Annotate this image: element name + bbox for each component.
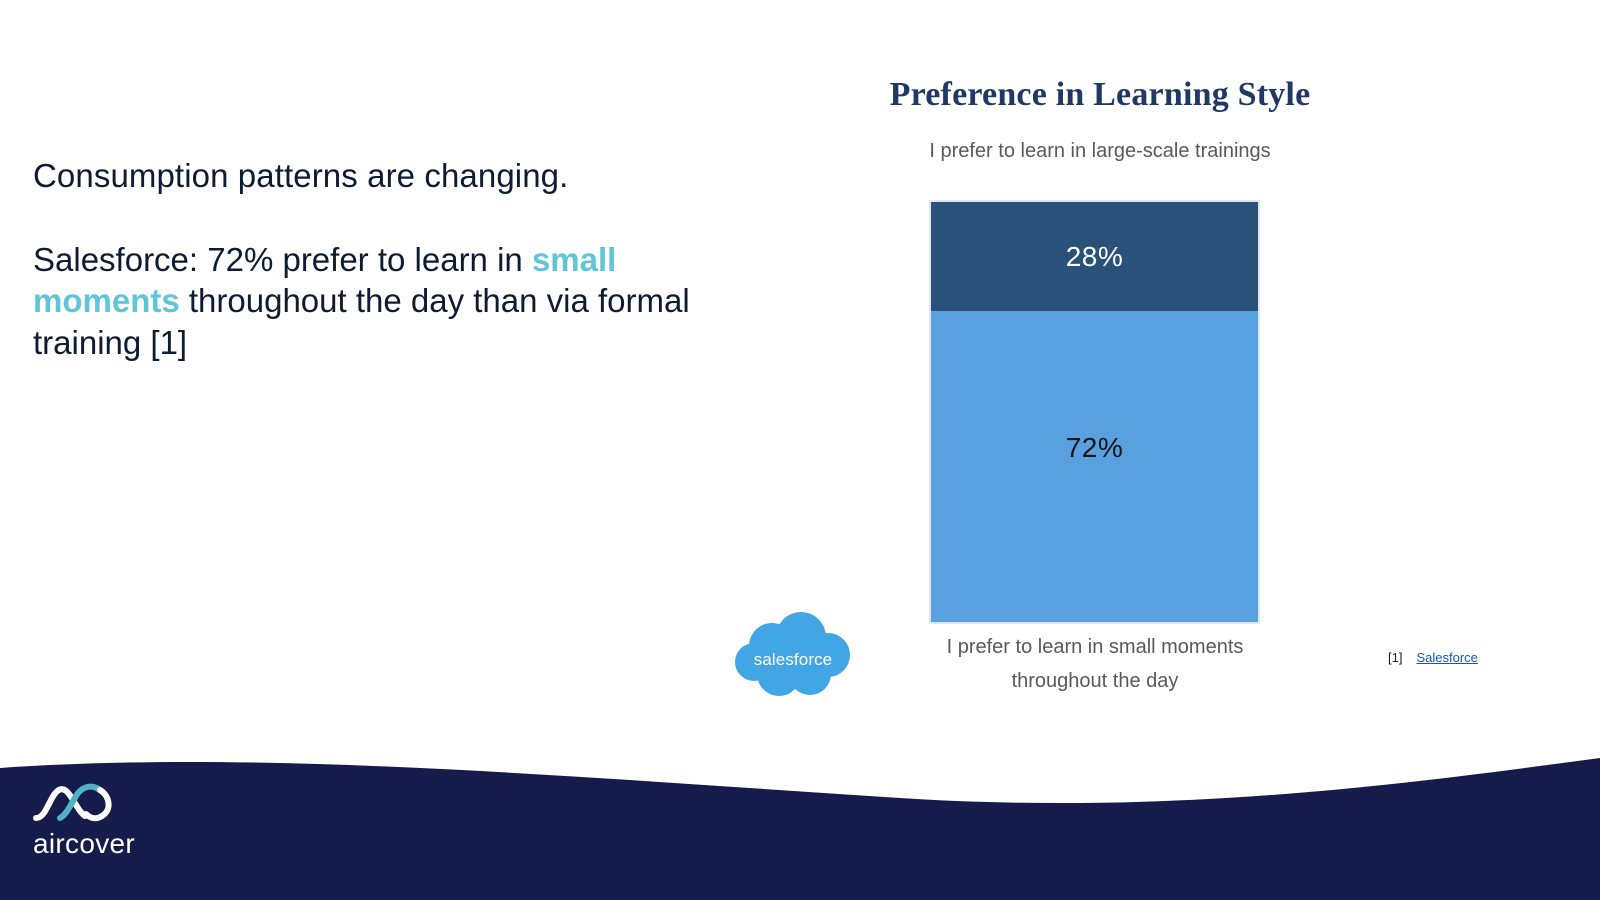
left-text-block: Consumption patterns are changing. Sales…	[33, 155, 713, 363]
salesforce-wordmark: salesforce	[732, 650, 854, 670]
footnote-source-link[interactable]: Salesforce	[1416, 650, 1477, 665]
body-copy: Salesforce: 72% prefer to learn in small…	[33, 239, 713, 363]
stacked-bar-chart: 28% 72%	[929, 200, 1260, 624]
aircover-wordmark: aircover	[33, 828, 192, 860]
chart-bottom-label-line2: throughout the day	[905, 664, 1285, 698]
slide-canvas: Consumption patterns are changing. Sales…	[0, 0, 1600, 900]
bar-segment-small-moments: 72%	[931, 311, 1258, 622]
chart-title: Preference in Learning Style	[840, 76, 1360, 114]
body-copy-part1: Salesforce: 72% prefer to learn in	[33, 241, 532, 278]
bar-value-small-moments: 72%	[1066, 432, 1124, 464]
bar-value-large-scale: 28%	[1066, 241, 1124, 273]
chart-top-category-label: I prefer to learn in large-scale trainin…	[840, 140, 1360, 163]
aircover-logo: aircover	[32, 782, 192, 862]
chart-header-block: Preference in Learning Style I prefer to…	[840, 60, 1360, 163]
salesforce-cloud-icon: salesforce	[732, 612, 854, 704]
chart-bottom-category-label: I prefer to learn in small moments throu…	[905, 630, 1285, 698]
chart-bottom-label-line1: I prefer to learn in small moments	[905, 630, 1285, 664]
footnote: [1] Salesforce	[1388, 650, 1478, 665]
bar-segment-large-scale-trainings: 28%	[931, 202, 1258, 311]
footnote-marker: [1]	[1388, 650, 1402, 665]
footer-wave-decoration	[0, 710, 1600, 900]
headline: Consumption patterns are changing.	[33, 155, 713, 197]
